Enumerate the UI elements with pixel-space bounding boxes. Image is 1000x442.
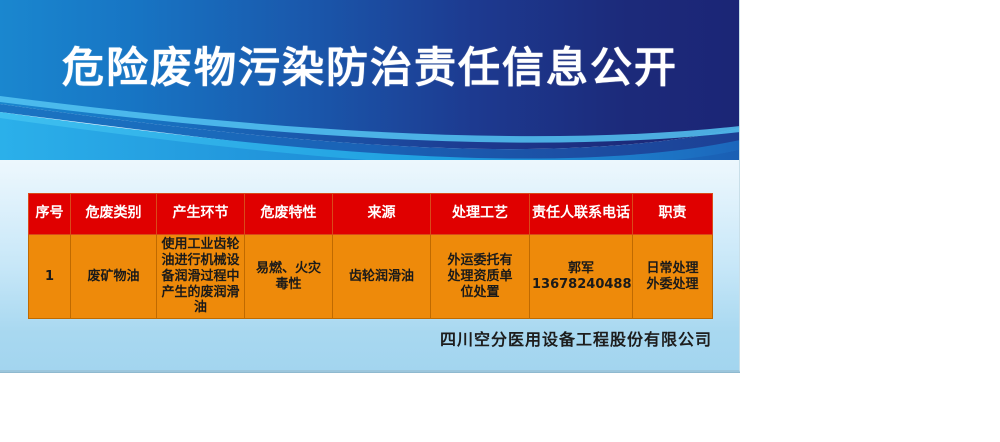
column-header-category: 危废类别 [71,194,157,235]
table-row: 1 废矿物油 使用工业齿轮油进行机械设备润滑过程中产生的废润滑油 易燃、火灾 毒… [29,235,713,319]
poster-panel: 危险废物污染防治责任信息公开 序号 危废类别 产生环节 危废特性 [0,0,740,372]
cell-index: 1 [29,235,71,319]
responsible-person-name: 郭军 [532,261,630,277]
column-header-duty: 职责 [633,194,713,235]
responsible-person-phone: 13678240488 [532,277,630,293]
duty-line-1: 日常处理 [635,261,710,277]
cell-hazard-property: 易燃、火灾 毒性 [245,235,333,319]
table-header-row: 序号 危废类别 产生环节 危废特性 来源 处理工艺 责任人联系电话 职责 [29,194,713,235]
hazard-property-line-1: 易燃、火灾 [247,261,330,277]
cell-responsible-contact: 郭军 13678240488 [530,235,633,319]
screenshot-canvas: 危险废物污染防治责任信息公开 序号 危废类别 产生环节 危废特性 [0,0,1000,442]
hazardous-waste-table: 序号 危废类别 产生环节 危废特性 来源 处理工艺 责任人联系电话 职责 1 废… [28,193,713,319]
treatment-line-2: 处理资质单 [433,269,527,285]
column-header-property: 危废特性 [245,194,333,235]
treatment-line-1: 外运委托有 [433,253,527,269]
cell-treatment: 外运委托有 处理资质单 位处置 [431,235,530,319]
banner-wave-graphic [0,0,740,160]
column-header-stage: 产生环节 [157,194,245,235]
cell-duty: 日常处理 外委处理 [633,235,713,319]
banner-header: 危险废物污染防治责任信息公开 [0,0,740,160]
duty-line-2: 外委处理 [635,277,710,293]
cell-generation-stage: 使用工业齿轮油进行机械设备润滑过程中产生的废润滑油 [157,235,245,319]
column-header-source: 来源 [333,194,431,235]
column-header-index: 序号 [29,194,71,235]
hazard-property-line-2: 毒性 [247,277,330,293]
column-header-contact: 责任人联系电话 [530,194,633,235]
cell-category: 废矿物油 [71,235,157,319]
treatment-line-3: 位处置 [433,285,527,301]
company-name: 四川空分医用设备工程股份有限公司 [0,326,712,350]
cell-source: 齿轮润滑油 [333,235,431,319]
column-header-treatment: 处理工艺 [431,194,530,235]
